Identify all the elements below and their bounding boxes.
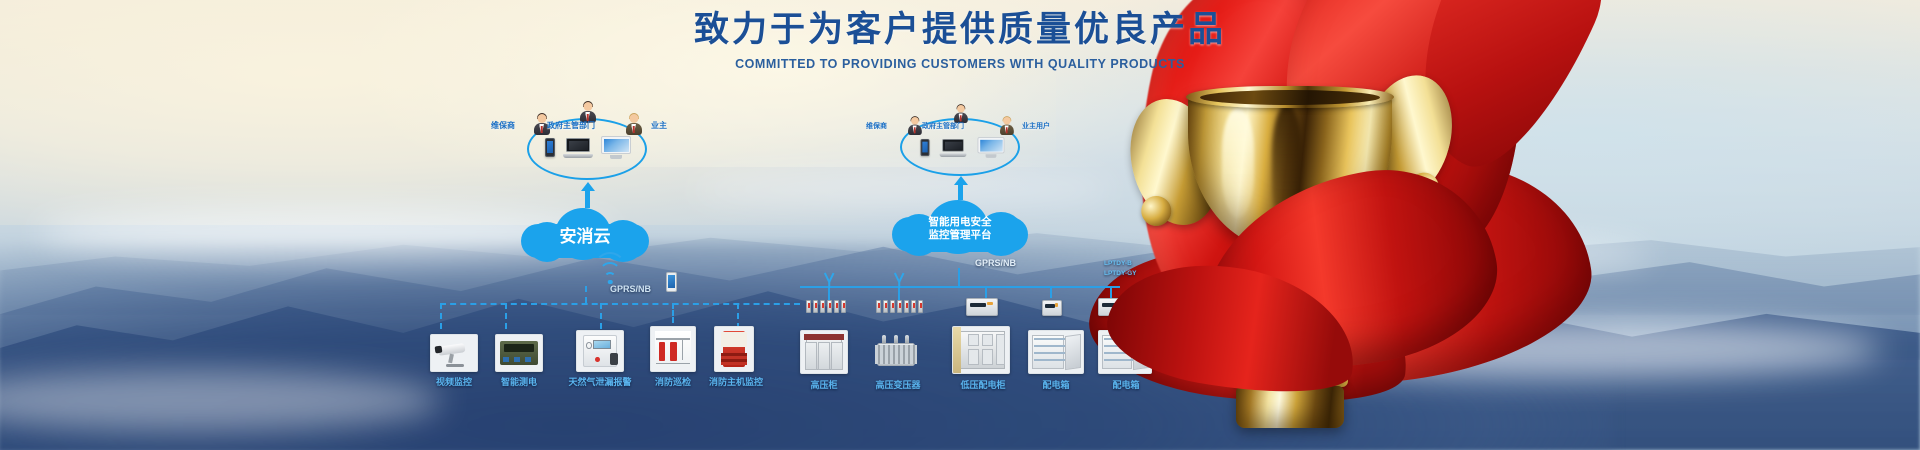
device-thumbnail-distribution-box-1	[1028, 330, 1084, 374]
device-thumbnail-fire-pump-inspection	[650, 326, 696, 372]
fire-cabinet-panel	[721, 332, 747, 347]
lvcabinet-art	[953, 327, 1009, 373]
ebox-art	[1029, 331, 1083, 373]
device-label-hv-switchgear: 高压柜	[788, 378, 860, 391]
right-riser-line	[958, 268, 960, 286]
lv-cabinet-module	[996, 334, 1005, 364]
person-tie	[632, 126, 635, 133]
switchgear-door	[818, 342, 830, 370]
ct-sensor	[806, 300, 811, 313]
laptop-icon	[940, 139, 967, 157]
antenna-icon	[822, 268, 836, 282]
ct-sensor-row	[806, 300, 846, 313]
right-network-label: GPRS/NB	[975, 258, 1016, 268]
left-drop-line	[672, 303, 674, 323]
ct-sensor	[813, 300, 818, 313]
trophy-highlight	[1222, 108, 1254, 218]
right-bus-line	[800, 286, 1120, 288]
person-head	[537, 114, 546, 123]
left-user-label-maintainer: 维保商	[491, 120, 515, 131]
antenna-icon	[892, 268, 906, 282]
ct-sensor	[918, 300, 923, 313]
monitor-icon	[601, 136, 631, 159]
headline-english: COMMITTED TO PROVIDING CUSTOMERS WITH QU…	[0, 57, 1920, 71]
monitor-stand	[986, 154, 997, 158]
device-label-fire-pump-inspection: 消防巡检	[637, 375, 709, 388]
ct-sensor	[904, 300, 909, 313]
panel-buttons	[503, 357, 534, 361]
device-label-gas-leak-alarm: 天然气泄漏报警	[553, 375, 647, 388]
laptop-screen	[942, 139, 964, 152]
banner-headline-block: 致力于为客户提供质量优良产品 COMMITTED TO PROVIDING CU…	[0, 8, 1920, 71]
person-icon	[907, 117, 922, 135]
right-platform-label-line2: 监控管理平台	[929, 229, 992, 241]
left-upstream-arrow	[585, 190, 590, 208]
smartphone-icon	[545, 138, 555, 157]
headline-chinese: 致力于为客户提供质量优良产品	[0, 8, 1920, 52]
camera-lens	[434, 345, 442, 353]
ct-sensor	[897, 300, 902, 313]
laptop-screen	[566, 138, 590, 152]
right-drop-line	[1110, 286, 1112, 298]
left-mobile-node-icon	[666, 272, 677, 292]
trophy-inner-mouth	[1200, 90, 1380, 105]
person-icon	[625, 114, 642, 135]
right-platform-label-line1: 智能用电安全	[929, 216, 992, 228]
device-label-lv-distribution-cabinet: 低压配电柜	[944, 378, 1022, 391]
ct-sensor	[890, 300, 895, 313]
panel-screen	[504, 344, 533, 351]
ct-sensor	[834, 300, 839, 313]
left-wifi-icon	[593, 262, 627, 284]
device-thumbnail-video-surveillance	[430, 334, 478, 372]
person-icon	[999, 117, 1014, 135]
promotional-banner: 致力于为客户提供质量优良产品 COMMITTED TO PROVIDING CU…	[0, 0, 1920, 450]
right-user-ellipse-group: 维保商 政府主管部门 业主用户	[900, 118, 1020, 176]
person-tie	[913, 127, 915, 133]
panel-art	[496, 335, 542, 371]
right-user-label-maintainer: 维保商	[866, 121, 887, 131]
monitoring-meter-icon	[966, 298, 998, 316]
person-head	[957, 105, 965, 113]
device-thumbnail-hv-switchgear	[800, 330, 848, 374]
left-user-label-government: 政府主管部门	[547, 120, 595, 131]
right-platform-cloud: 智能用电安全 监控管理平台	[892, 200, 1028, 252]
device-thumbnail-smart-metering	[495, 334, 543, 372]
lv-cabinet-module	[982, 334, 993, 346]
gas-knob	[586, 342, 592, 348]
monitoring-meter-icon	[1042, 300, 1062, 316]
laptop-icon	[563, 138, 593, 158]
monitor-icon	[978, 137, 1005, 158]
right-user-label-government: 政府主管部门	[922, 121, 964, 131]
transformer-cooling-fins	[875, 345, 917, 364]
person-head	[1003, 117, 1011, 125]
ct-sensor	[820, 300, 825, 313]
camera-arm	[448, 353, 454, 363]
left-network-label: GPRS/NB	[610, 284, 651, 294]
switchgear-door	[831, 342, 843, 370]
left-riser-line	[585, 286, 587, 303]
right-drop-line	[828, 286, 830, 300]
left-drop-line	[600, 303, 602, 329]
right-user-label-owner: 业主用户	[1022, 121, 1050, 131]
camera-art	[431, 335, 477, 371]
sensor-model-tag-gy: LPTDY-GY	[1104, 270, 1137, 277]
smartphone-icon	[921, 139, 930, 156]
left-user-label-owner: 业主	[651, 120, 667, 131]
gasbox-art	[577, 331, 623, 371]
person-tie	[1005, 127, 1007, 133]
device-thumbnail-fire-host-monitoring	[714, 326, 754, 372]
switchgear-header	[804, 334, 845, 341]
monitor-screen	[978, 137, 1005, 153]
fire-pump-unit	[659, 342, 665, 361]
left-platform-label: 安消云	[521, 226, 649, 248]
device-label-distribution-box-1: 配电箱	[1022, 378, 1090, 391]
fire-pipe	[656, 363, 689, 364]
gas-sensor-probe	[610, 353, 618, 365]
switchgear-art	[801, 331, 847, 373]
left-bus-line	[440, 303, 800, 305]
right-upstream-arrow	[958, 184, 963, 200]
laptop-base	[563, 154, 593, 158]
device-label-video-surveillance: 视频监控	[418, 375, 490, 388]
fire-pipe	[656, 338, 689, 339]
lv-cabinet-module	[982, 349, 993, 365]
person-head	[583, 102, 592, 111]
ct-sensor-row	[876, 300, 923, 313]
device-thumbnail-hv-transformer	[870, 330, 922, 374]
device-thumbnail-gas-leak-alarm	[576, 330, 624, 372]
left-platform-cloud: 安消云	[521, 208, 649, 258]
lv-cabinet-module	[968, 349, 979, 365]
right-drop-line	[985, 286, 987, 298]
ct-sensor	[911, 300, 916, 313]
fire-pipe	[682, 338, 683, 359]
trophy-base	[1236, 386, 1344, 428]
camera-base	[446, 364, 464, 367]
device-thumbnail-lv-distribution-cabinet	[952, 326, 1010, 374]
ct-sensor	[876, 300, 881, 313]
left-drop-line	[505, 303, 507, 329]
ebox-door	[1065, 334, 1081, 370]
device-label-smart-metering: 智能测电	[483, 375, 555, 388]
right-drop-line	[898, 286, 900, 300]
device-label-hv-transformer: 高压变压器	[858, 378, 938, 391]
meter-indicator	[1055, 303, 1058, 306]
ct-sensor	[827, 300, 832, 313]
lv-cabinet-module	[968, 334, 979, 346]
ct-sensor	[841, 300, 846, 313]
person-tie	[540, 126, 543, 133]
redcab-art	[715, 327, 753, 371]
firepump-art	[651, 327, 695, 371]
gas-display	[593, 340, 611, 350]
person-head	[911, 117, 919, 125]
ct-sensor	[883, 300, 888, 313]
fire-pump-unit	[670, 342, 676, 361]
monitor-stand	[610, 155, 622, 159]
left-user-ellipse-group: 维保商 政府主管部门 业主	[527, 118, 647, 180]
person-head	[629, 114, 638, 123]
meter-indicator	[987, 302, 992, 306]
lv-cabinet-side	[953, 327, 961, 373]
switchgear-door	[805, 342, 817, 370]
monitor-screen	[601, 136, 631, 154]
right-platform-label: 智能用电安全 监控管理平台	[892, 216, 1028, 244]
laptop-base	[940, 153, 967, 157]
left-drop-line	[440, 303, 442, 329]
transformer-art	[870, 330, 922, 374]
device-label-fire-host-monitoring: 消防主机监控	[700, 375, 772, 388]
fire-cabinet-grill	[721, 353, 747, 364]
right-drop-line	[1050, 286, 1052, 298]
sensor-model-tag-b: LPTDY-B	[1104, 260, 1132, 267]
